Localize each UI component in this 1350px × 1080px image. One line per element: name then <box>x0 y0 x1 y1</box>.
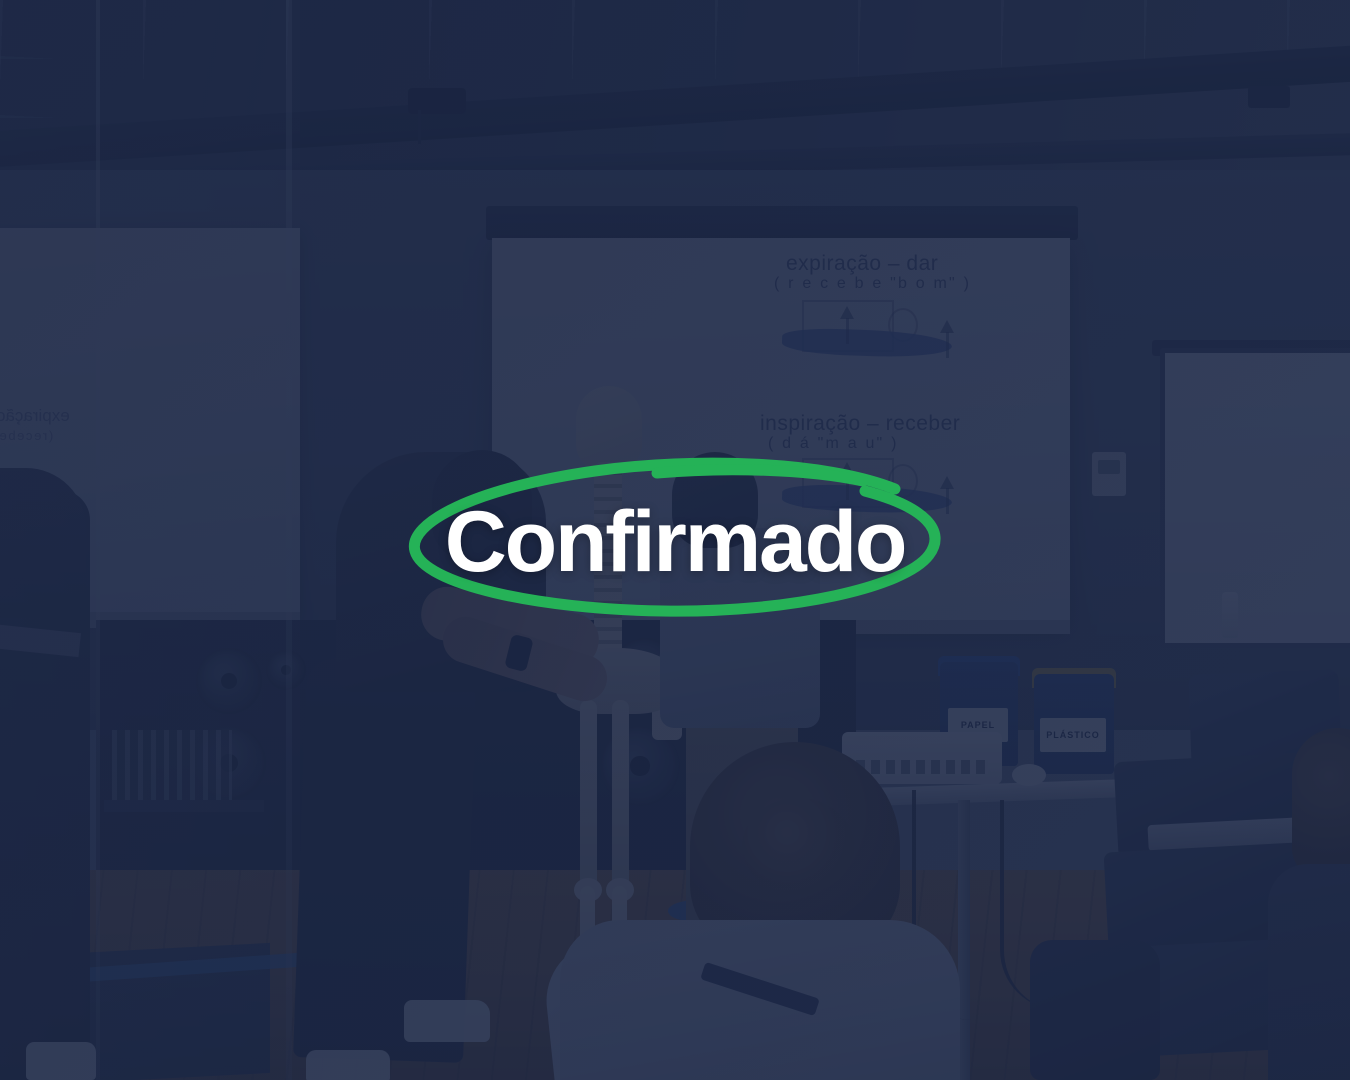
screenshot-root: expiração – dar ( r e c e b e "b o m" ) … <box>0 0 1350 1080</box>
status-badge: Confirmado <box>395 445 955 635</box>
status-label: Confirmado <box>445 499 906 585</box>
status-overlay: Confirmado <box>0 0 1350 1080</box>
